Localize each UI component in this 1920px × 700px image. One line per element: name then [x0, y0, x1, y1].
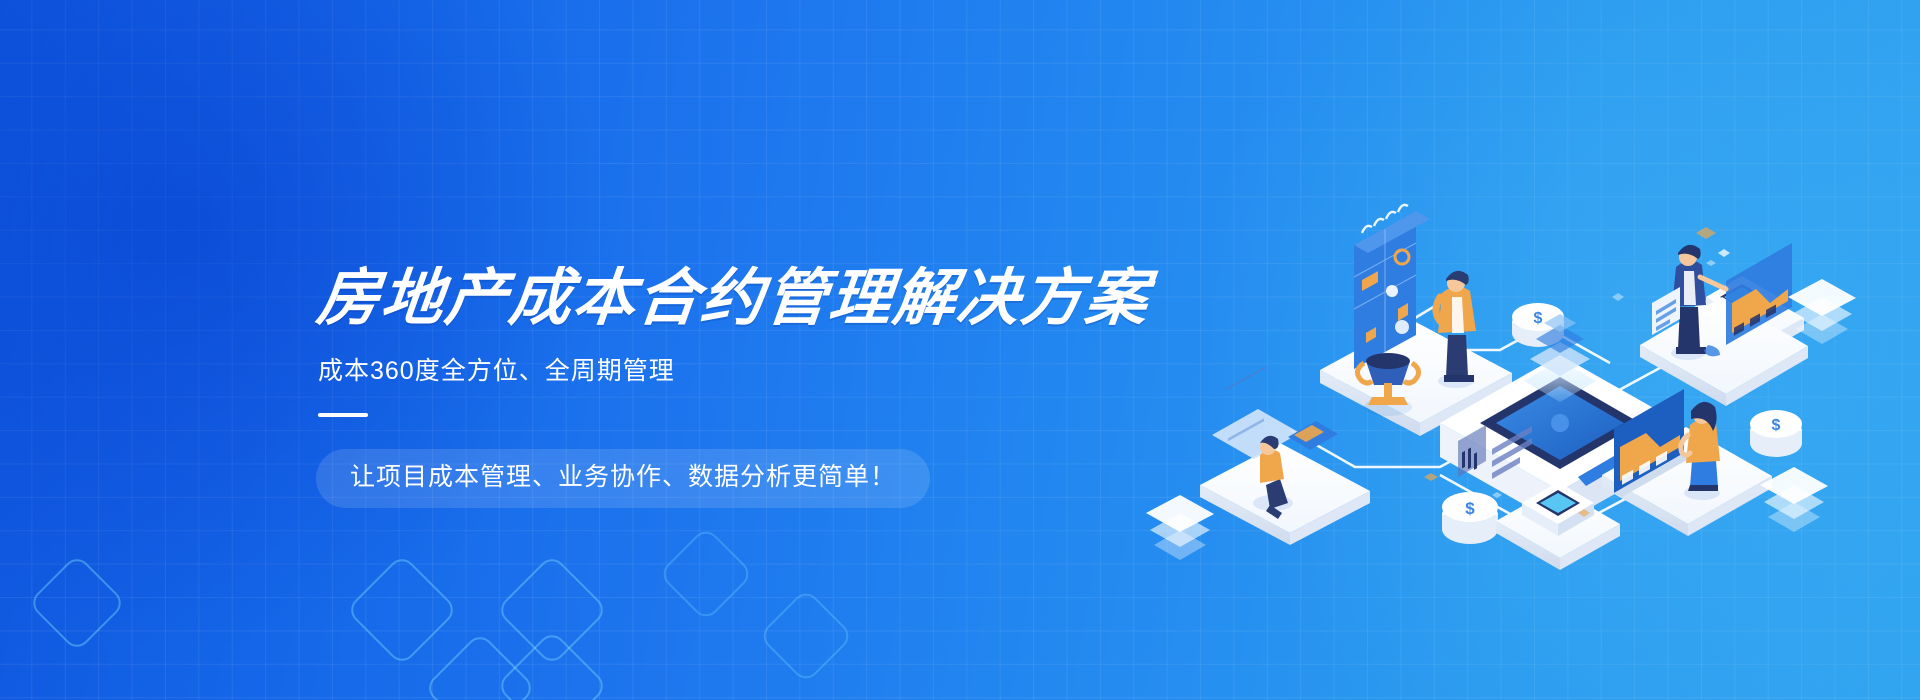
- document-card: [1212, 367, 1300, 459]
- deco-diamond-5: [495, 629, 608, 700]
- coin-stack-right: $: [1750, 410, 1802, 457]
- deco-diamond-1: [28, 554, 127, 653]
- floating-plate-stack-left: [1146, 495, 1214, 560]
- trophy: [1357, 353, 1418, 416]
- page-title: 房地产成本合约管理解决方案: [314, 268, 1081, 330]
- hero-banner: 房地产成本合约管理解决方案 成本360度全方位、全周期管理 让项目成本管理、业务…: [0, 0, 1920, 700]
- deco-diamond-4: [495, 553, 608, 666]
- svg-text:$: $: [1772, 417, 1781, 434]
- deco-diamond-7: [758, 588, 854, 684]
- svg-text:$: $: [1465, 499, 1475, 518]
- isometric-cost-management-illustration: $ $ $: [1140, 185, 1880, 585]
- deco-diamond-2: [345, 553, 458, 666]
- chart-screen-small: [1288, 421, 1338, 450]
- deco-diamond-6: [658, 526, 754, 622]
- coin-stack-center: $: [1442, 492, 1498, 544]
- tagline-pill: 让项目成本管理、业务协作、数据分析更简单！: [316, 449, 930, 508]
- svg-text:$: $: [1534, 310, 1543, 327]
- deco-diamond-3: [423, 631, 536, 700]
- title-divider: [318, 413, 368, 417]
- floating-plate-stack-right: [1788, 279, 1856, 344]
- page-subtitle: 成本360度全方位、全周期管理: [318, 356, 1074, 386]
- hero-copy: 房地产成本合约管理解决方案 成本360度全方位、全周期管理 让项目成本管理、业务…: [314, 268, 1074, 508]
